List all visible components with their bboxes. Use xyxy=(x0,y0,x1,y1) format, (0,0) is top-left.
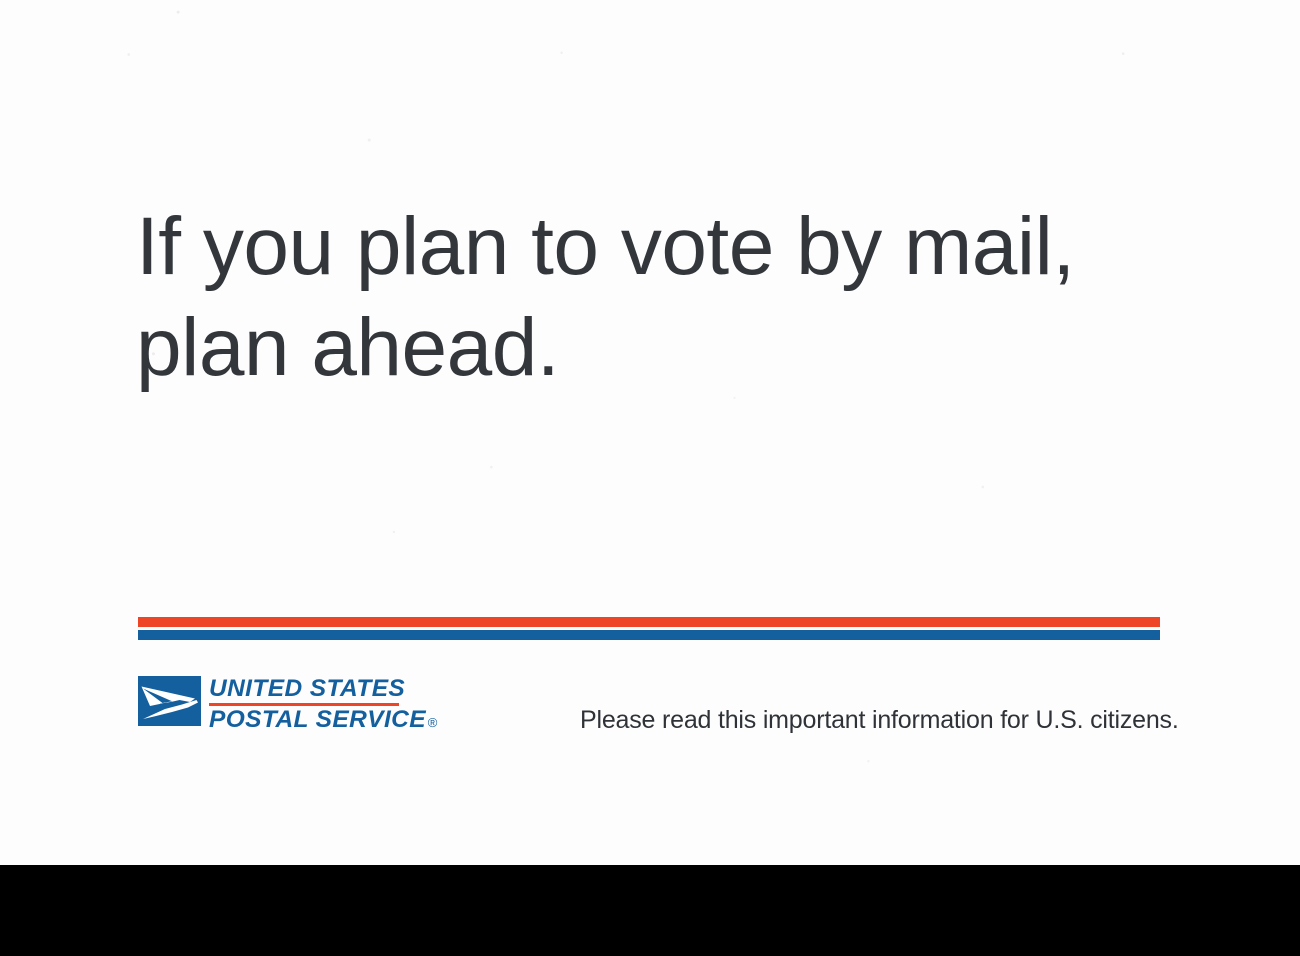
screenshot-root: If you plan to vote by mail, plan ahead.… xyxy=(0,0,1300,956)
usps-line-united-states: UNITED STATES xyxy=(209,677,442,701)
usps-sonic-eagle-icon xyxy=(138,676,201,726)
usps-line-postal-service: POSTAL SERVICE xyxy=(209,708,426,732)
tagline-text: Please read this important information f… xyxy=(580,706,1179,735)
usps-postcard-scan: If you plan to vote by mail, plan ahead.… xyxy=(0,0,1300,865)
brand-stripes xyxy=(138,617,1160,640)
usps-logo: UNITED STATES POSTAL SERVICE ® xyxy=(138,676,437,732)
blue-stripe xyxy=(138,630,1160,640)
red-stripe xyxy=(138,617,1160,627)
alamy-watermark-bar: alamy Image ID: 2CKMB63 www.alamy.com xyxy=(0,865,1300,956)
usps-wordmark: UNITED STATES POSTAL SERVICE ® xyxy=(209,676,437,732)
registered-trademark-icon: ® xyxy=(428,715,438,730)
page-title: If you plan to vote by mail, plan ahead. xyxy=(136,196,1206,398)
scan-noise-overlay xyxy=(0,0,1300,865)
